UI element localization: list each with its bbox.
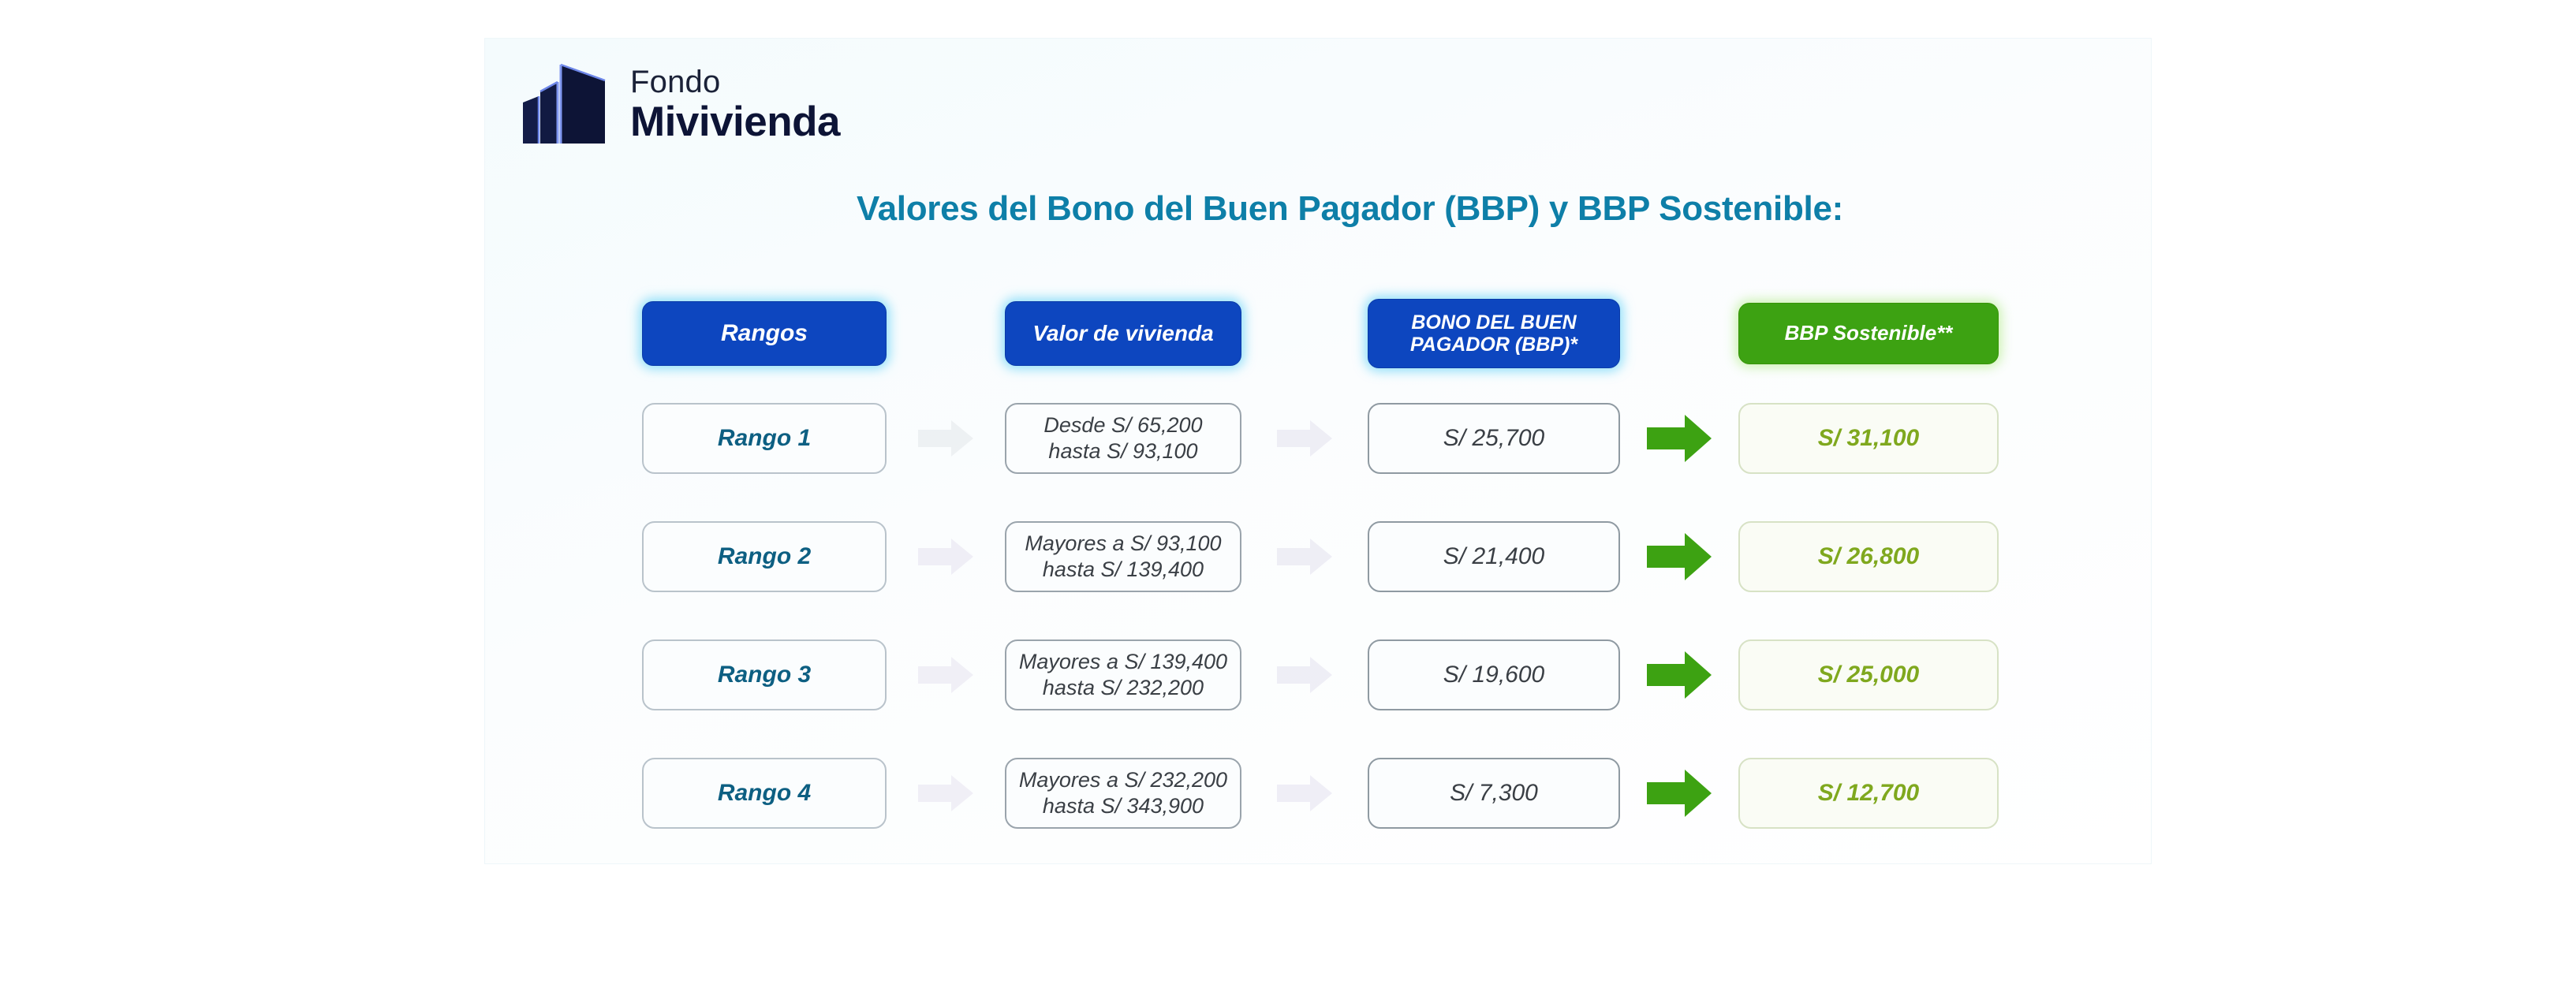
cell-valor-vivienda: Mayores a S/ 93,100 hasta S/ 139,400 [1005, 521, 1241, 592]
bbp-sostenible-value: S/ 12,700 [1738, 758, 1999, 829]
brand-wordmark: Fondo Mivivienda [630, 66, 840, 143]
cell-bbp: S/ 25,700 [1368, 403, 1620, 474]
bbp-value: S/ 25,700 [1368, 403, 1620, 474]
cell-bbp-sostenible: S/ 25,000 [1738, 639, 1999, 710]
arrow-right-green-icon [1645, 412, 1713, 464]
row-connector-1 [887, 535, 1005, 578]
header-pill-bbp-line2: PAGADOR (BBP)* [1410, 334, 1577, 356]
bbp-value: S/ 19,600 [1368, 639, 1620, 710]
header-pill-bbp-line1: BONO DEL BUEN [1411, 311, 1576, 334]
brand-line-fondo: Fondo [630, 66, 840, 98]
cell-valor-vivienda: Mayores a S/ 232,200 hasta S/ 343,900 [1005, 758, 1241, 829]
table-row: Rango 3 Mayores a S/ 139,400 hasta S/ 23… [484, 633, 2152, 716]
bbp-sostenible-value: S/ 31,100 [1738, 403, 1999, 474]
cell-bbp-sostenible: S/ 31,100 [1738, 403, 1999, 474]
brand-logo: Fondo Mivivienda [517, 62, 840, 147]
table-row: Rango 1 Desde S/ 65,200 hasta S/ 93,100 [484, 397, 2152, 479]
cell-rango: Rango 2 [642, 521, 887, 592]
valor-vivienda-value: Mayores a S/ 139,400 hasta S/ 232,200 [1005, 639, 1241, 710]
header-cell-bbp-sostenible: BBP Sostenible** [1738, 303, 1999, 364]
header-cell-bbp: BONO DEL BUEN PAGADOR (BBP)* [1368, 299, 1620, 368]
row-connector-3 [1620, 531, 1738, 583]
row-connector-1 [887, 772, 1005, 815]
row-connector-2 [1241, 772, 1368, 815]
cell-valor-vivienda: Desde S/ 65,200 hasta S/ 93,100 [1005, 403, 1241, 474]
arrow-right-faint-icon [1275, 535, 1334, 578]
valor-line-1: Desde S/ 65,200 [1043, 413, 1202, 437]
valor-vivienda-value: Desde S/ 65,200 hasta S/ 93,100 [1005, 403, 1241, 474]
table-row: Rango 4 Mayores a S/ 232,200 hasta S/ 34… [484, 751, 2152, 834]
header-cell-valor-vivienda: Valor de vivienda [1005, 301, 1241, 366]
arrow-right-faint-icon [917, 417, 975, 460]
cell-rango: Rango 3 [642, 639, 887, 710]
row-connector-3 [1620, 767, 1738, 819]
row-connector-1 [887, 417, 1005, 460]
rango-label: Rango 3 [642, 639, 887, 710]
bbp-sostenible-value: S/ 26,800 [1738, 521, 1999, 592]
table-row: Rango 2 Mayores a S/ 93,100 hasta S/ 139… [484, 515, 2152, 598]
row-connector-3 [1620, 649, 1738, 701]
valor-line-2: hasta S/ 93,100 [1048, 439, 1197, 463]
valor-vivienda-value: Mayores a S/ 93,100 hasta S/ 139,400 [1005, 521, 1241, 592]
cell-rango: Rango 4 [642, 758, 887, 829]
header-cell-rangos: Rangos [642, 301, 887, 366]
row-connector-1 [887, 654, 1005, 696]
cell-bbp: S/ 7,300 [1368, 758, 1620, 829]
brand-line-mivivienda: Mivivienda [630, 101, 840, 143]
row-connector-2 [1241, 535, 1368, 578]
header-pill-valor-vivienda: Valor de vivienda [1005, 301, 1241, 366]
slide-canvas: Fondo Mivivienda Valores del Bono del Bu… [0, 0, 2576, 1003]
valor-line-2: hasta S/ 343,900 [1043, 794, 1204, 818]
arrow-right-faint-icon [1275, 654, 1334, 696]
valor-vivienda-value: Mayores a S/ 232,200 hasta S/ 343,900 [1005, 758, 1241, 829]
row-connector-2 [1241, 417, 1368, 460]
rango-label: Rango 2 [642, 521, 887, 592]
cell-valor-vivienda: Mayores a S/ 139,400 hasta S/ 232,200 [1005, 639, 1241, 710]
bbp-value: S/ 21,400 [1368, 521, 1620, 592]
cell-bbp-sostenible: S/ 12,700 [1738, 758, 1999, 829]
arrow-right-green-icon [1645, 767, 1713, 819]
valor-line-2: hasta S/ 139,400 [1043, 557, 1204, 581]
page-title: Valores del Bono del Buen Pagador (BBP) … [857, 189, 1961, 229]
valor-line-2: hasta S/ 232,200 [1043, 676, 1204, 699]
cell-bbp: S/ 19,600 [1368, 639, 1620, 710]
cell-bbp: S/ 21,400 [1368, 521, 1620, 592]
row-connector-3 [1620, 412, 1738, 464]
rango-label: Rango 1 [642, 403, 887, 474]
arrow-right-faint-icon [917, 535, 975, 578]
arrow-right-faint-icon [1275, 417, 1334, 460]
bbp-values-table: Rangos Valor de vivienda BONO DEL BUEN P… [484, 292, 2152, 834]
cell-bbp-sostenible: S/ 26,800 [1738, 521, 1999, 592]
arrow-right-green-icon [1645, 649, 1713, 701]
header-pill-rangos: Rangos [642, 301, 887, 366]
arrow-right-green-icon [1645, 531, 1713, 583]
table-header-row: Rangos Valor de vivienda BONO DEL BUEN P… [484, 292, 2152, 375]
arrow-right-faint-icon [1275, 772, 1334, 815]
header-pill-bbp: BONO DEL BUEN PAGADOR (BBP)* [1368, 299, 1620, 368]
bbp-value: S/ 7,300 [1368, 758, 1620, 829]
valor-line-1: Mayores a S/ 139,400 [1019, 650, 1227, 673]
valor-line-1: Mayores a S/ 93,100 [1025, 531, 1221, 555]
fondo-mivivienda-building-logo-icon [517, 62, 610, 147]
row-connector-2 [1241, 654, 1368, 696]
arrow-right-faint-icon [917, 772, 975, 815]
cell-rango: Rango 1 [642, 403, 887, 474]
header-pill-bbp-sostenible: BBP Sostenible** [1738, 303, 1999, 364]
bbp-sostenible-value: S/ 25,000 [1738, 639, 1999, 710]
rango-label: Rango 4 [642, 758, 887, 829]
arrow-right-faint-icon [917, 654, 975, 696]
valor-line-1: Mayores a S/ 232,200 [1019, 768, 1227, 792]
